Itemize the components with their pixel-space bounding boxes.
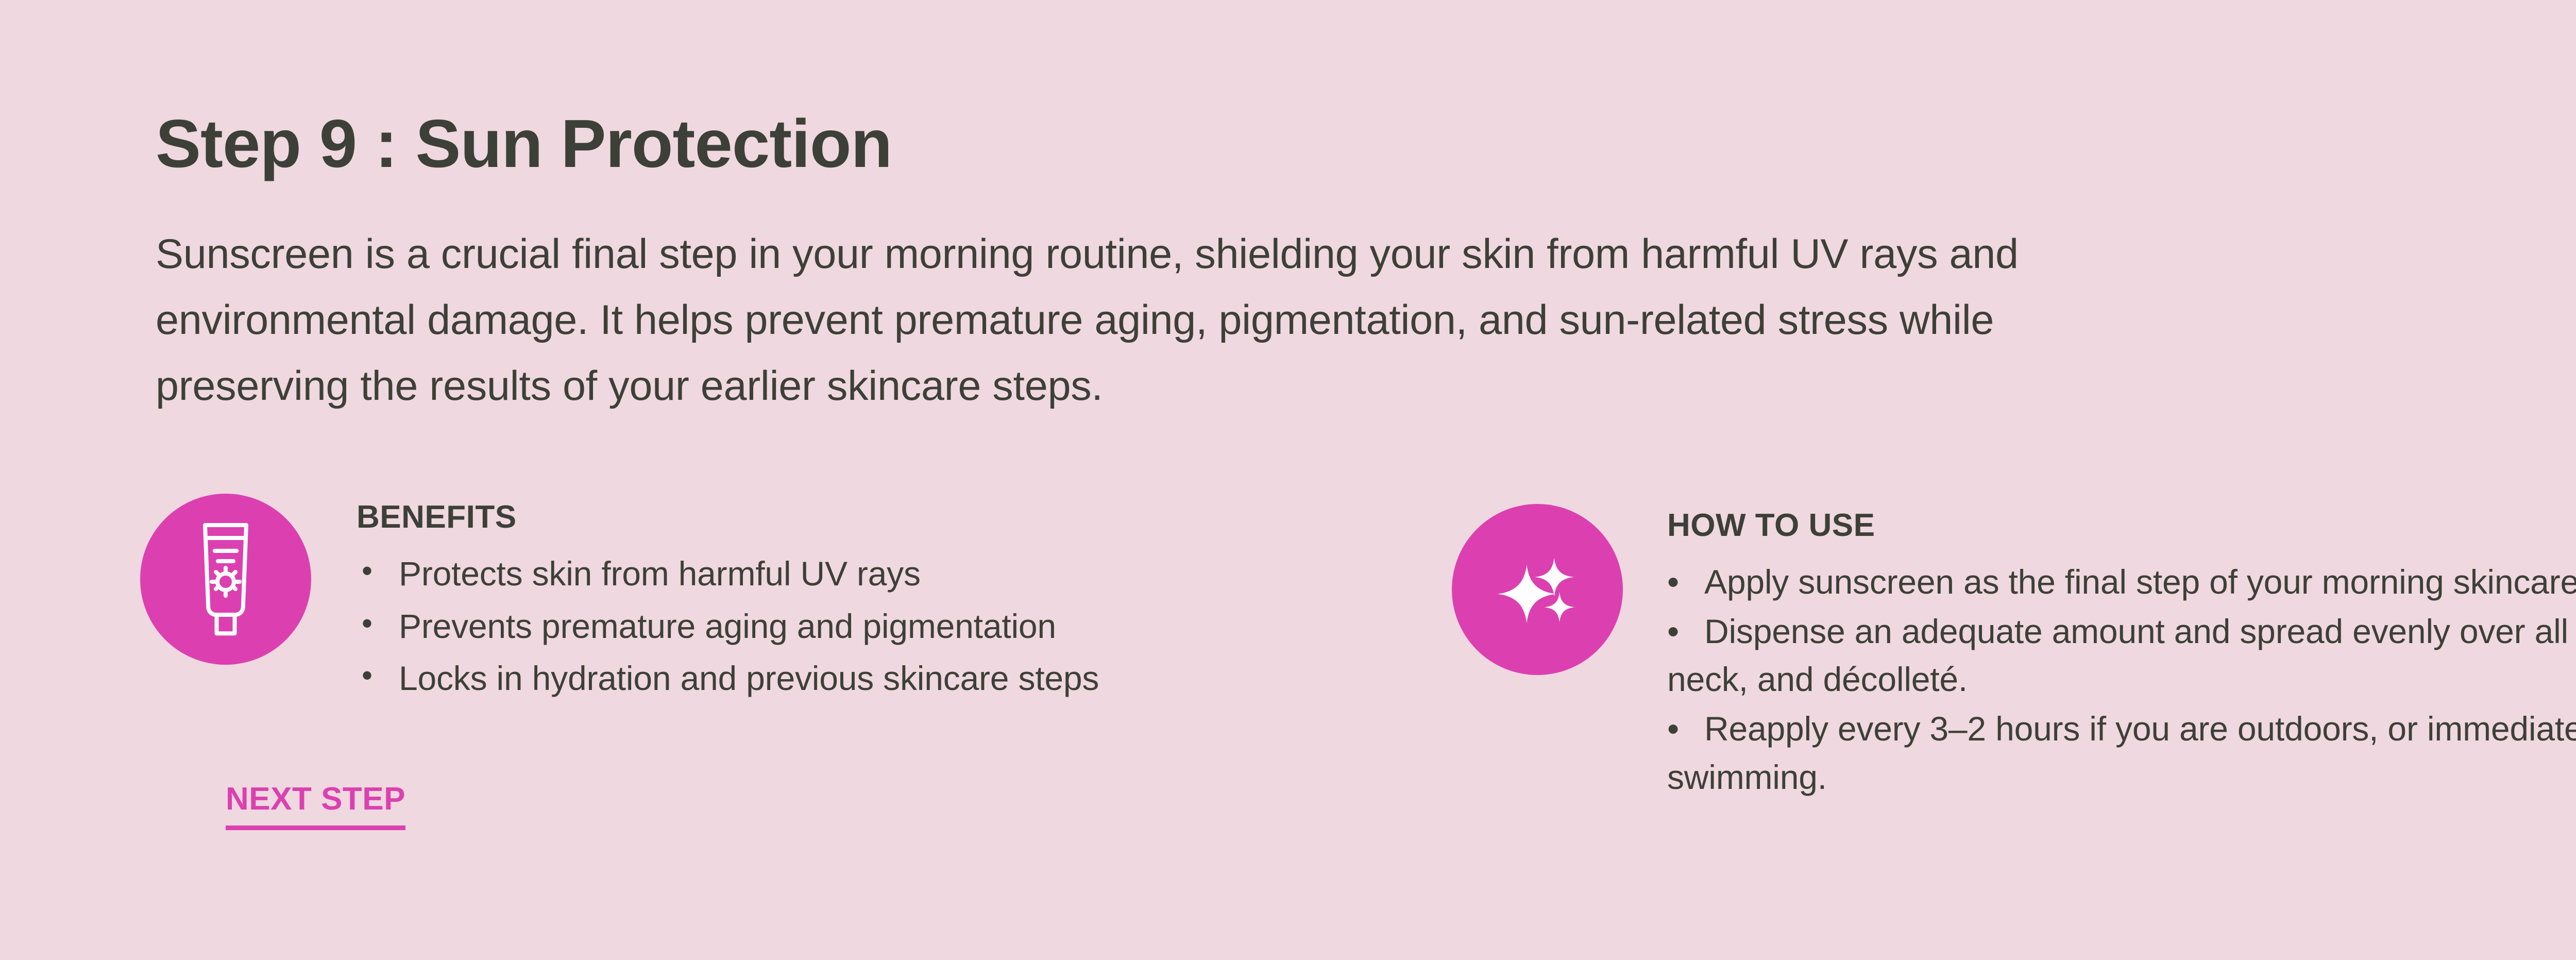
how-to-use-text-block: HOW TO USE •Apply sunscreen as the final…	[1667, 504, 2576, 803]
benefits-heading: BENEFITS	[357, 499, 1099, 535]
intro-paragraph: Sunscreen is a crucial final step in you…	[156, 222, 2576, 419]
how-to-use-section: HOW TO USE •Apply sunscreen as the final…	[1452, 504, 2576, 803]
next-step-link[interactable]: NEXT STEP	[226, 781, 405, 830]
benefits-section: BENEFITS Protects skin from harmful UV r…	[140, 494, 1099, 707]
benefits-badge	[140, 494, 311, 665]
intro-line-1: Sunscreen is a crucial final step in you…	[156, 222, 2576, 288]
benefits-text-block: BENEFITS Protects skin from harmful UV r…	[357, 494, 1099, 707]
list-item: •Dispense an adequate amount and spread …	[1667, 608, 2576, 704]
bullet-marker: •	[1667, 705, 1704, 753]
bullet-marker: •	[1667, 608, 1704, 656]
list-item: Prevents premature aging and pigmentatio…	[357, 602, 1099, 651]
how-to-use-heading: HOW TO USE	[1667, 507, 2576, 544]
slide-root: Step 9 : Sun Protection Sunscreen is a c…	[0, 0, 2576, 960]
list-item: Protects skin from harmful UV rays	[357, 550, 1099, 598]
intro-line-3: preserving the results of your earlier s…	[156, 353, 2576, 419]
how-to-use-list: •Apply sunscreen as the final step of yo…	[1667, 558, 2576, 802]
list-item: •Apply sunscreen as the final step of yo…	[1667, 558, 2576, 607]
how-to-use-badge	[1452, 504, 1623, 675]
intro-line-2: environmental damage. It helps prevent p…	[156, 288, 2576, 353]
bullet-marker: •	[1667, 558, 1704, 607]
sparkles-icon	[1493, 545, 1582, 634]
list-item-label: Reapply every 3–2 hours if you are outdo…	[1667, 710, 2576, 796]
list-item: Locks in hydration and previous skincare…	[357, 654, 1099, 703]
benefits-list: Protects skin from harmful UV rays Preve…	[357, 550, 1099, 703]
list-item: •Reapply every 3–2 hours if you are outd…	[1667, 705, 2576, 801]
page-title: Step 9 : Sun Protection	[156, 108, 892, 180]
list-item-label: Apply sunscreen as the final step of you…	[1704, 563, 2576, 601]
list-item-label: Dispense an adequate amount and spread e…	[1667, 612, 2576, 699]
sunscreen-tube-icon	[187, 520, 264, 638]
